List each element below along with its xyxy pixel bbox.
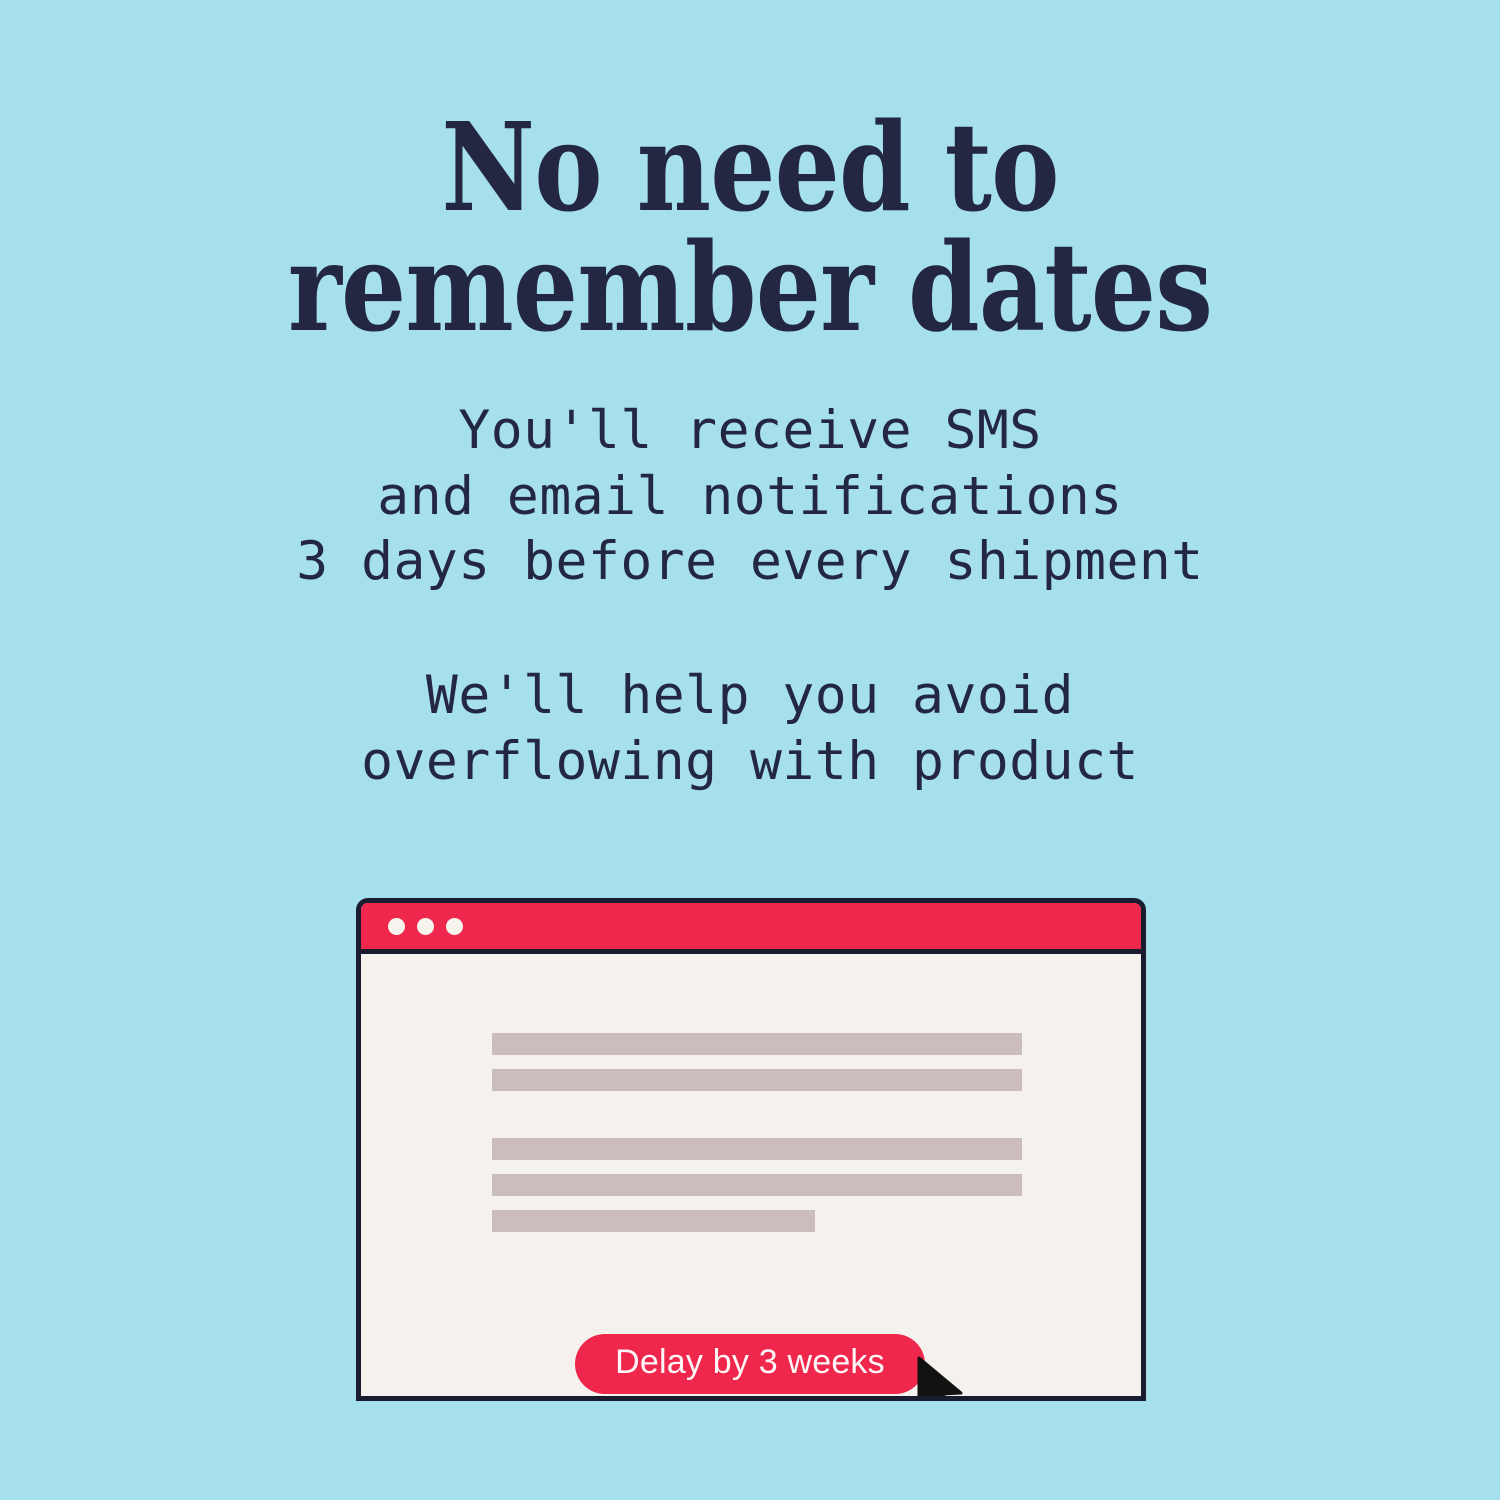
minimize-dot-icon[interactable] (417, 918, 434, 935)
page-title: No need to remember dates (120, 108, 1380, 347)
skeleton-bar (492, 1210, 815, 1232)
skeleton-bar (492, 1033, 1022, 1055)
browser-title-bar (361, 903, 1141, 954)
close-dot-icon[interactable] (388, 918, 405, 935)
delay-shipment-button[interactable]: Delay by 3 weeks (575, 1334, 925, 1394)
skeleton-bar (492, 1138, 1022, 1160)
browser-content-area: Delay by 3 weeks (361, 954, 1141, 1401)
maximize-dot-icon[interactable] (446, 918, 463, 935)
skeleton-bar (492, 1174, 1022, 1196)
poster-canvas: No need to remember dates You'll receive… (0, 0, 1500, 1500)
browser-window-mockup: Delay by 3 weeks (356, 898, 1146, 1401)
skeleton-text-block (492, 1033, 1022, 1232)
body-paragraph-notifications: You'll receive SMS and email notificatio… (0, 398, 1500, 595)
body-paragraph-overflow: We'll help you avoid overflowing with pr… (0, 663, 1500, 794)
skeleton-bar (492, 1069, 1022, 1091)
